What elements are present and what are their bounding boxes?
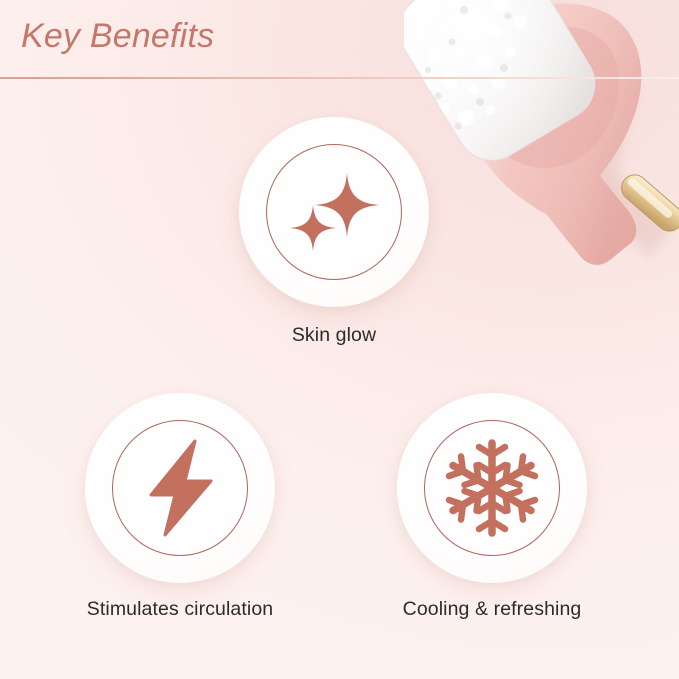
benefit-label: Cooling & refreshing xyxy=(403,598,582,621)
page-title: Key Benefits xyxy=(21,17,214,56)
lightning-bolt-icon xyxy=(125,433,235,543)
snowflake-icon xyxy=(437,433,547,543)
benefit-icon-disc xyxy=(239,117,429,307)
header-divider xyxy=(0,77,679,79)
benefit-icon-disc xyxy=(397,393,587,583)
benefit-label: Skin glow xyxy=(292,324,376,347)
sparkle-icon xyxy=(279,157,389,267)
header: Key Benefits xyxy=(0,0,679,90)
key-benefits-panel: Key Benefits Skin glow Stimulates circul… xyxy=(0,0,679,679)
benefit-item-skin-glow: Skin glow xyxy=(239,117,429,347)
benefit-icon-disc xyxy=(85,393,275,583)
benefit-label: Stimulates circulation xyxy=(87,598,273,621)
benefit-item-stimulates-circulation: Stimulates circulation xyxy=(85,393,275,621)
benefit-item-cooling-refreshing: Cooling & refreshing xyxy=(397,393,587,621)
